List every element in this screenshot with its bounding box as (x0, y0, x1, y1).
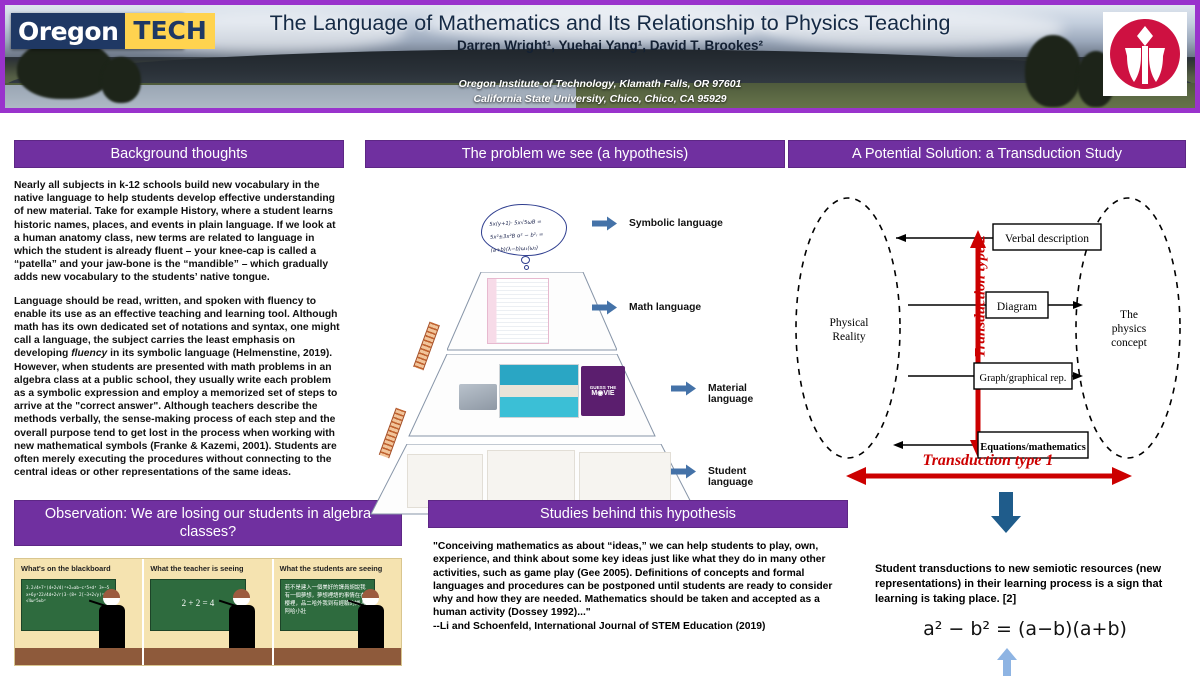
oregon-tech-logo-word-oregon: Oregon (11, 13, 125, 49)
studies-quote: "Conceiving mathematics as about “ideas,… (428, 540, 848, 620)
tier-label-symbolic: Symbolic language (629, 218, 723, 229)
problem-hypothesis-section: The problem we see (a hypothesis) 5x(y+1… (365, 140, 785, 516)
poster-header-banner: Oregon TECH The Language of Mathematics … (0, 0, 1200, 113)
poster-authors: Darren Wright¹, Yuehai Yang¹, David T. B… (195, 38, 1025, 53)
tier-label-student: Student language (708, 466, 785, 488)
conclusion-equation: a² − b² = (a−b)(a+b) (900, 618, 1150, 640)
math-worksheets-image (487, 278, 549, 344)
teacher-head (233, 589, 250, 606)
tier-label-material: Material language (708, 383, 785, 405)
floor (274, 648, 401, 665)
teacher-head (362, 589, 379, 606)
background-paragraph-2: Language should be read, written, and sp… (14, 295, 344, 480)
blue-arrow-icon (671, 381, 697, 396)
transduction-type-2-label: Transduction type 2 (973, 222, 990, 372)
cartoon-caption: What the teacher is seeing (150, 564, 243, 573)
physics-concept-line1: The (1090, 308, 1168, 322)
background-paragraph-2-italic: fluency (71, 348, 107, 359)
blue-arrow-icon (592, 300, 618, 315)
cartoon-caption: What the students are seeing (280, 564, 383, 573)
thought-bubble: 5x(y+1)· 5x√5ωB = 5x²±3x²B α² − b²ᵣ = (a… (481, 204, 567, 256)
affiliation-line-1: Oregon Institute of Technology, Klamath … (255, 77, 945, 92)
cartoon-panel-student-view: What the students are seeing 若不是建入一個美好的譯… (274, 559, 401, 665)
guess-the-movie-image: GUESS THE M◉VIE (581, 366, 625, 416)
conclusion-text: Student transductions to new semiotic re… (875, 562, 1175, 607)
physics-concept-line3: concept (1090, 336, 1168, 350)
studies-heading: Studies behind this hypothesis (428, 500, 848, 528)
studies-section: Studies behind this hypothesis "Conceivi… (428, 500, 848, 633)
banner-tree (1025, 35, 1081, 107)
blue-arrow-icon (671, 464, 697, 479)
poster-affiliations: Oregon Institute of Technology, Klamath … (255, 77, 945, 107)
movie-tile-line2: M◉VIE (591, 391, 614, 397)
poster-title: The Language of Mathematics and Its Rela… (195, 11, 1025, 36)
floor (144, 648, 271, 665)
cartoon-panel-teacher-view: What the teacher is seeing 2 + 2 = 4 (144, 559, 273, 665)
up-arrow-icon (996, 648, 1018, 676)
background-thoughts-body: Nearly all subjects in k-12 schools buil… (14, 179, 344, 479)
observation-heading: Observation: We are losing our students … (14, 500, 402, 546)
box-diagram[interactable]: Diagram (986, 294, 1048, 320)
physics-concept-line2: physics (1090, 322, 1168, 336)
teacher-body (358, 605, 384, 651)
problem-hypothesis-heading: The problem we see (a hypothesis) (365, 140, 785, 168)
chico-state-seal-logo (1103, 12, 1187, 96)
laptop-image (459, 384, 497, 410)
teacher-body (99, 605, 125, 651)
thought-bubble-dot (521, 256, 530, 264)
language-pyramid-figure: 5x(y+1)· 5x√5ωB = 5x²±3x²B α² − b²ᵣ = (a… (365, 176, 785, 516)
background-paragraph-2-part2: in its symbolic language (Helmenstine, 2… (14, 348, 337, 478)
transduction-diagram: Physical Reality The physics concept Ver… (788, 168, 1186, 498)
background-thoughts-heading: Background thoughts (14, 140, 344, 168)
blackboard-cartoon-figure: What's on the blackboard 3.2√4+7²(4+2√4)… (14, 558, 402, 666)
floor (15, 648, 142, 665)
tier-label-math: Math language (629, 302, 701, 313)
blue-arrow-icon (592, 216, 618, 231)
physics-concept-label: The physics concept (1090, 308, 1168, 350)
library-photo-image (499, 364, 579, 418)
down-arrow-icon (990, 492, 1022, 534)
studies-source: --Li and Schoenfeld, International Journ… (428, 620, 848, 633)
thought-bubble-dot (524, 265, 529, 270)
background-thoughts-section: Background thoughts Nearly all subjects … (14, 140, 344, 489)
physical-reality-label: Physical Reality (810, 316, 888, 344)
affiliation-line-2: California State University, Chico, Chic… (255, 92, 945, 107)
chico-state-seal-icon (1107, 16, 1183, 92)
banner-tree (101, 57, 141, 103)
physical-reality-line2: Reality (810, 330, 888, 344)
transduction-heading: A Potential Solution: a Transduction Stu… (788, 140, 1186, 168)
cartoon-caption: What's on the blackboard (21, 564, 111, 573)
teacher-body (229, 605, 255, 651)
teacher-head (103, 589, 120, 606)
cartoon-panel-blackboard: What's on the blackboard 3.2√4+7²(4+2√4)… (15, 559, 144, 665)
blackboard-content: 3.2√4+7²(4+2√4)²+2=ab−c²5+d³ 3+−5x+6y²22… (26, 585, 111, 605)
transduction-solution-section: A Potential Solution: a Transduction Stu… (788, 140, 1186, 498)
box-verbal-description[interactable]: Verbal description (993, 226, 1101, 252)
physical-reality-line1: Physical (810, 316, 888, 330)
oregon-tech-logo-word-tech: TECH (125, 13, 214, 49)
oregon-tech-logo: Oregon TECH (11, 13, 184, 49)
transduction-type-1-label: Transduction type 1 (878, 452, 1098, 470)
background-paragraph-1: Nearly all subjects in k-12 schools buil… (14, 179, 344, 285)
thought-bubble-equation: 5x(y+1)· 5x√5ωB = 5x²±3x²B α² − b²ᵣ = (a… (489, 215, 561, 258)
observation-section: Observation: We are losing our students … (14, 500, 402, 666)
